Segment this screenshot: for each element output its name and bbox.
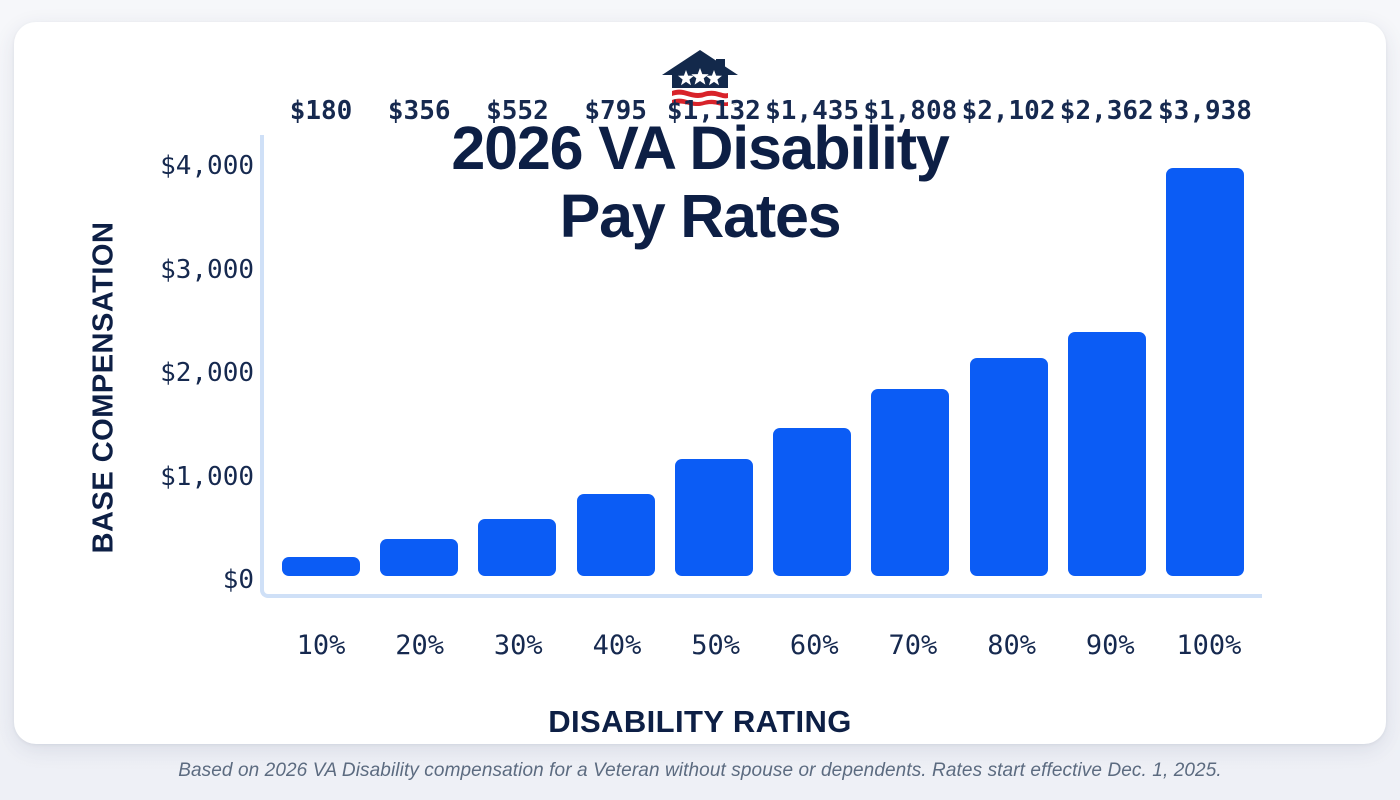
bar-rect[interactable]: $1,132 — [675, 459, 753, 576]
y-tick-label: $0 — [94, 565, 254, 595]
bar-value-label: $1,808 — [863, 96, 957, 126]
screenshot-root: ® 2026 VA Disability Pay Rates BASE COMP… — [0, 0, 1400, 800]
x-tick-label: 40% — [578, 630, 656, 661]
bar-rect[interactable]: $795 — [577, 494, 655, 576]
x-tick-label: 80% — [973, 630, 1051, 661]
bar-column[interactable]: $180 — [282, 135, 360, 576]
bar-rect[interactable]: $356 — [380, 539, 458, 576]
bar-value-label: $2,102 — [962, 96, 1056, 126]
bar-column[interactable]: $552 — [478, 135, 556, 576]
bar-value-label: $552 — [486, 96, 549, 126]
bar-value-label: $3,938 — [1158, 96, 1252, 126]
x-tick-label: 50% — [677, 630, 755, 661]
bar-value-label: $1,435 — [765, 96, 859, 126]
bar-column[interactable]: $3,938 — [1166, 135, 1244, 576]
bar-value-label: $1,132 — [667, 96, 761, 126]
x-axis-ticks: 10%20%30%40%50%60%70%80%90%100% — [264, 630, 1266, 661]
bar-column[interactable]: $2,102 — [970, 135, 1048, 576]
bar-value-label: $356 — [388, 96, 451, 126]
y-tick-label: $4,000 — [94, 151, 254, 181]
x-tick-label: 100% — [1170, 630, 1248, 661]
bar-rect[interactable]: $2,362 — [1068, 332, 1146, 576]
x-axis-title: DISABILITY RATING — [14, 704, 1386, 740]
x-tick-label: 70% — [874, 630, 952, 661]
x-tick-label: 20% — [381, 630, 459, 661]
y-tick-label: $1,000 — [94, 462, 254, 492]
y-tick-label: $3,000 — [94, 255, 254, 285]
bar-rect[interactable]: $3,938 — [1166, 168, 1244, 576]
bar-column[interactable]: $1,808 — [871, 135, 949, 576]
bar-value-label: $795 — [584, 96, 647, 126]
bar-rect[interactable]: $1,435 — [773, 428, 851, 577]
bar-column[interactable]: $1,435 — [773, 135, 851, 576]
plot-area: $180$356$552$795$1,132$1,435$1,808$2,102… — [260, 135, 1262, 598]
bar-rect[interactable]: $180 — [282, 557, 360, 576]
bar-series: $180$356$552$795$1,132$1,435$1,808$2,102… — [264, 135, 1262, 594]
y-tick-label: $2,000 — [94, 358, 254, 388]
x-tick-label: 30% — [479, 630, 557, 661]
chart-card: ® 2026 VA Disability Pay Rates BASE COMP… — [14, 22, 1386, 744]
bar-rect[interactable]: $1,808 — [871, 389, 949, 576]
bar-column[interactable]: $1,132 — [675, 135, 753, 576]
bar-value-label: $180 — [290, 96, 353, 126]
x-tick-label: 90% — [1071, 630, 1149, 661]
bar-value-label: $2,362 — [1060, 96, 1154, 126]
bar-rect[interactable]: $2,102 — [970, 358, 1048, 576]
bar-column[interactable]: $356 — [380, 135, 458, 576]
bar-column[interactable]: $2,362 — [1068, 135, 1146, 576]
bar-rect[interactable]: $552 — [478, 519, 556, 576]
x-tick-label: 10% — [282, 630, 360, 661]
bar-column[interactable]: $795 — [577, 135, 655, 576]
chart-caption: Based on 2026 VA Disability compensation… — [0, 760, 1400, 782]
x-tick-label: 60% — [775, 630, 853, 661]
